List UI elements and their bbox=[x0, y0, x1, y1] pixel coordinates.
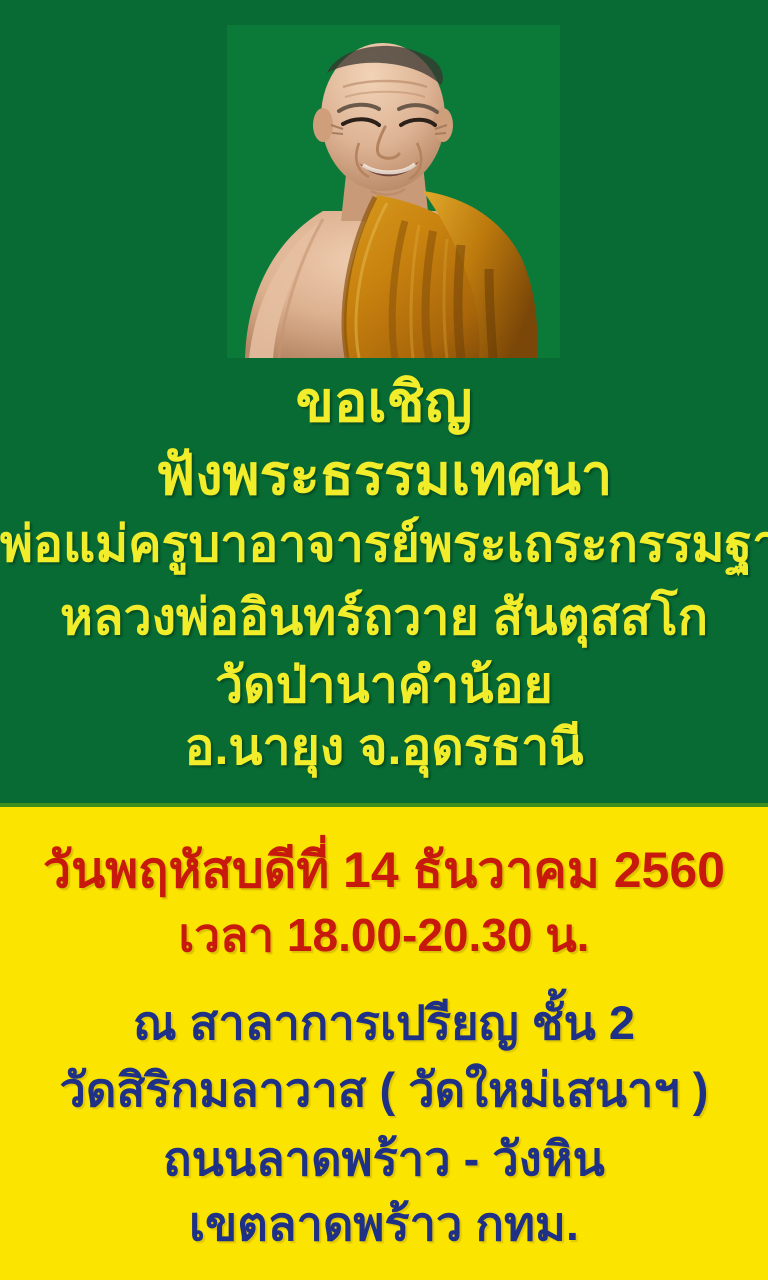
poster-root: ขอเชิญ ฟังพระธรรมเทศนา พ่อแม่ครูบาอาจารย… bbox=[0, 0, 768, 1280]
monk-province-line: อ.นายุง จ.อุดรธานี bbox=[0, 722, 768, 772]
monk-portrait-photo bbox=[227, 25, 560, 358]
event-venue-line: วัดสิริกมลาวาส ( วัดใหม่เสนาฯ ) bbox=[0, 1066, 768, 1113]
event-date-line: วันพฤหัสบดีที่ 14 ธันวาคม 2560 bbox=[0, 845, 768, 895]
monk-name-line: หลวงพ่ออินทร์ถวาย สันตุสสโก bbox=[0, 592, 768, 642]
monk-portrait-illustration bbox=[227, 25, 560, 358]
invitation-headline: ขอเชิญ bbox=[0, 374, 768, 430]
monk-temple-line: วัดป่านาคำน้อย bbox=[0, 660, 768, 710]
teachers-title-line: พ่อแม่ครูบาอาจารย์พระเถระกรรมฐาน bbox=[0, 519, 768, 569]
event-time-line: เวลา 18.00-20.30 น. bbox=[0, 912, 768, 958]
sermon-headline: ฟังพระธรรมเทศนา bbox=[0, 447, 768, 503]
event-road-line: ถนนลาดพร้าว - วังหิน bbox=[0, 1135, 768, 1182]
event-district-line: เขตลาดพร้าว กทม. bbox=[0, 1200, 768, 1247]
event-hall-line: ณ สาลาการเปรียญ ชั้น 2 bbox=[0, 999, 768, 1046]
